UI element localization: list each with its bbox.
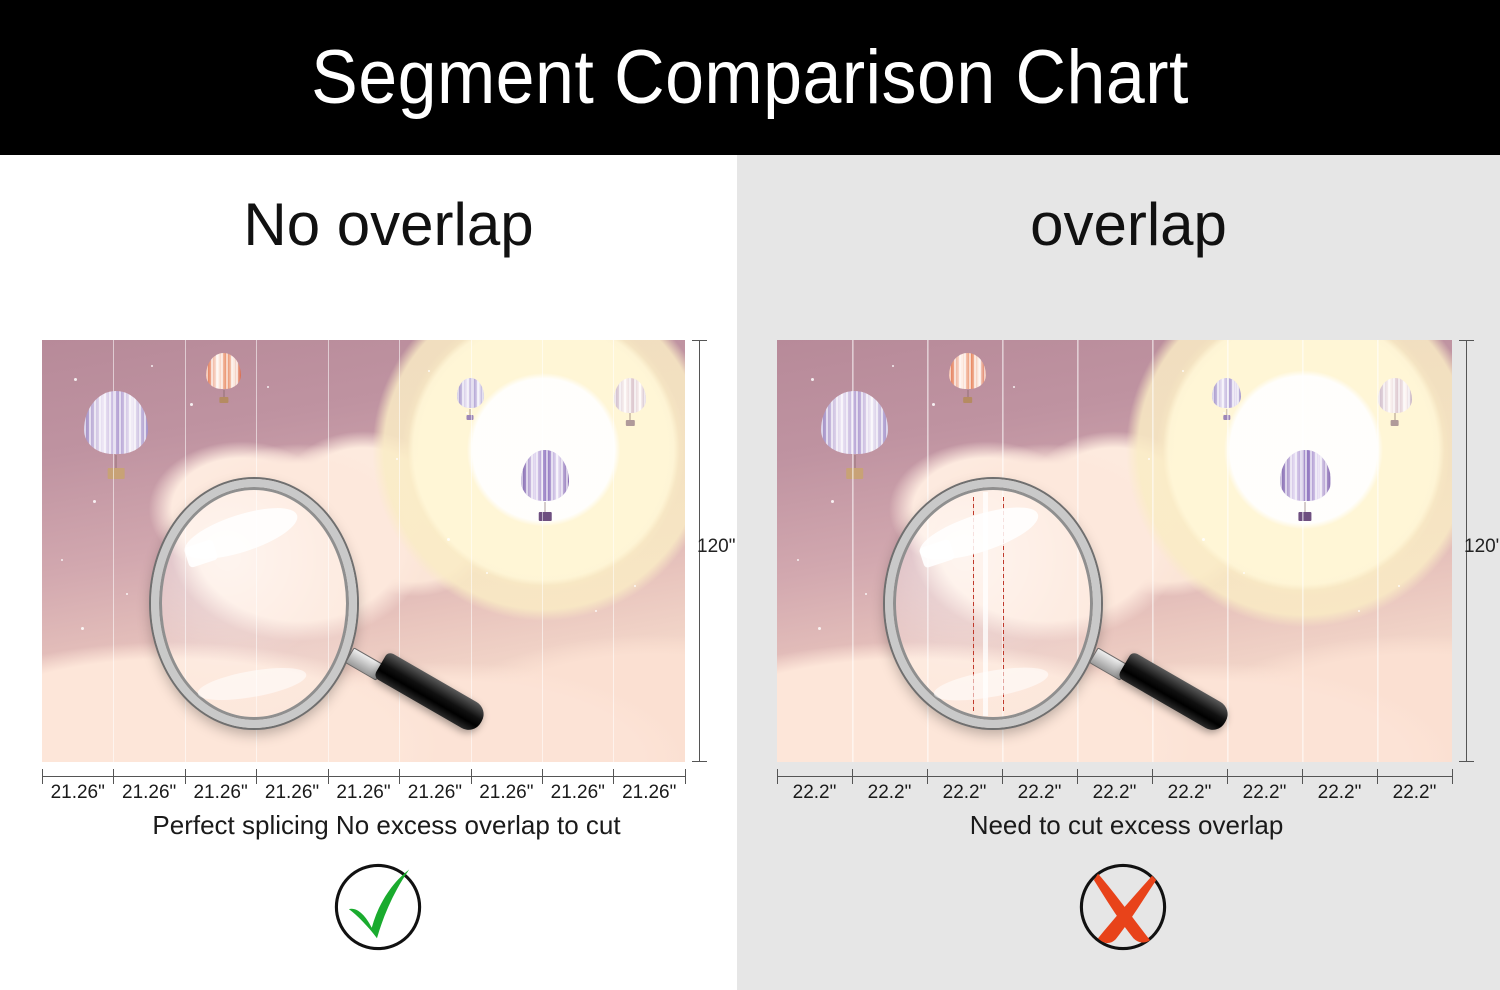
segment-label: 22.2"	[927, 782, 1002, 804]
mural-image-no-overlap	[42, 340, 685, 762]
mural-seam-lines	[42, 340, 685, 762]
height-label-no-overlap: 120"	[697, 536, 735, 558]
segment-label: 22.2"	[1077, 782, 1152, 804]
panel-no-overlap: No overlap	[0, 155, 737, 990]
segment-label: 21.26"	[328, 782, 399, 804]
segment-label: 21.26"	[185, 782, 256, 804]
segment-label: 22.2"	[1152, 782, 1227, 804]
segment-label: 22.2"	[1002, 782, 1077, 804]
panel-heading-overlap: overlap	[737, 195, 1500, 255]
segment-label: 22.2"	[1377, 782, 1452, 804]
page-title: Segment Comparison Chart	[311, 40, 1189, 116]
segment-label: 22.2"	[1302, 782, 1377, 804]
caption-overlap: Need to cut excess overlap	[737, 810, 1500, 841]
comparison-panels: No overlap	[0, 155, 1500, 990]
segment-label: 21.26"	[542, 782, 613, 804]
panel-heading-no-overlap: No overlap	[0, 195, 757, 255]
red-cross-icon	[1071, 855, 1175, 959]
magnifier-icon-no-overlap	[151, 479, 357, 728]
height-label-overlap: 120"	[1464, 536, 1500, 558]
mural-image-overlap	[777, 340, 1452, 762]
segment-labels-no-overlap: 21.26" 21.26" 21.26" 21.26" 21.26" 21.26…	[42, 782, 685, 804]
panel-overlap: overlap	[737, 155, 1500, 990]
segment-comparison-page: Segment Comparison Chart No overlap	[0, 0, 1500, 990]
mural-figure-overlap: 120" 22.2" 22.2" 22.2" 22.2" 22.2" 22.2"	[777, 340, 1452, 762]
segment-label: 21.26"	[42, 782, 113, 804]
segment-label: 21.26"	[256, 782, 327, 804]
segment-labels-overlap: 22.2" 22.2" 22.2" 22.2" 22.2" 22.2" 22.2…	[777, 782, 1452, 804]
segment-label: 21.26"	[399, 782, 470, 804]
caption-no-overlap: Perfect splicing No excess overlap to cu…	[0, 810, 755, 841]
segment-label: 22.2"	[777, 782, 852, 804]
segment-label: 21.26"	[614, 782, 685, 804]
segment-label: 22.2"	[852, 782, 927, 804]
segment-label: 21.26"	[113, 782, 184, 804]
segment-label: 22.2"	[1227, 782, 1302, 804]
title-bar: Segment Comparison Chart	[0, 0, 1500, 155]
magnifier-icon-overlap	[885, 479, 1101, 728]
mural-figure-no-overlap: 120" 21.26" 21.26" 21.26" 21.26" 21.26"	[42, 340, 685, 762]
mural-seam-lines	[777, 340, 1452, 762]
segment-label: 21.26"	[471, 782, 542, 804]
green-check-icon	[326, 855, 430, 959]
